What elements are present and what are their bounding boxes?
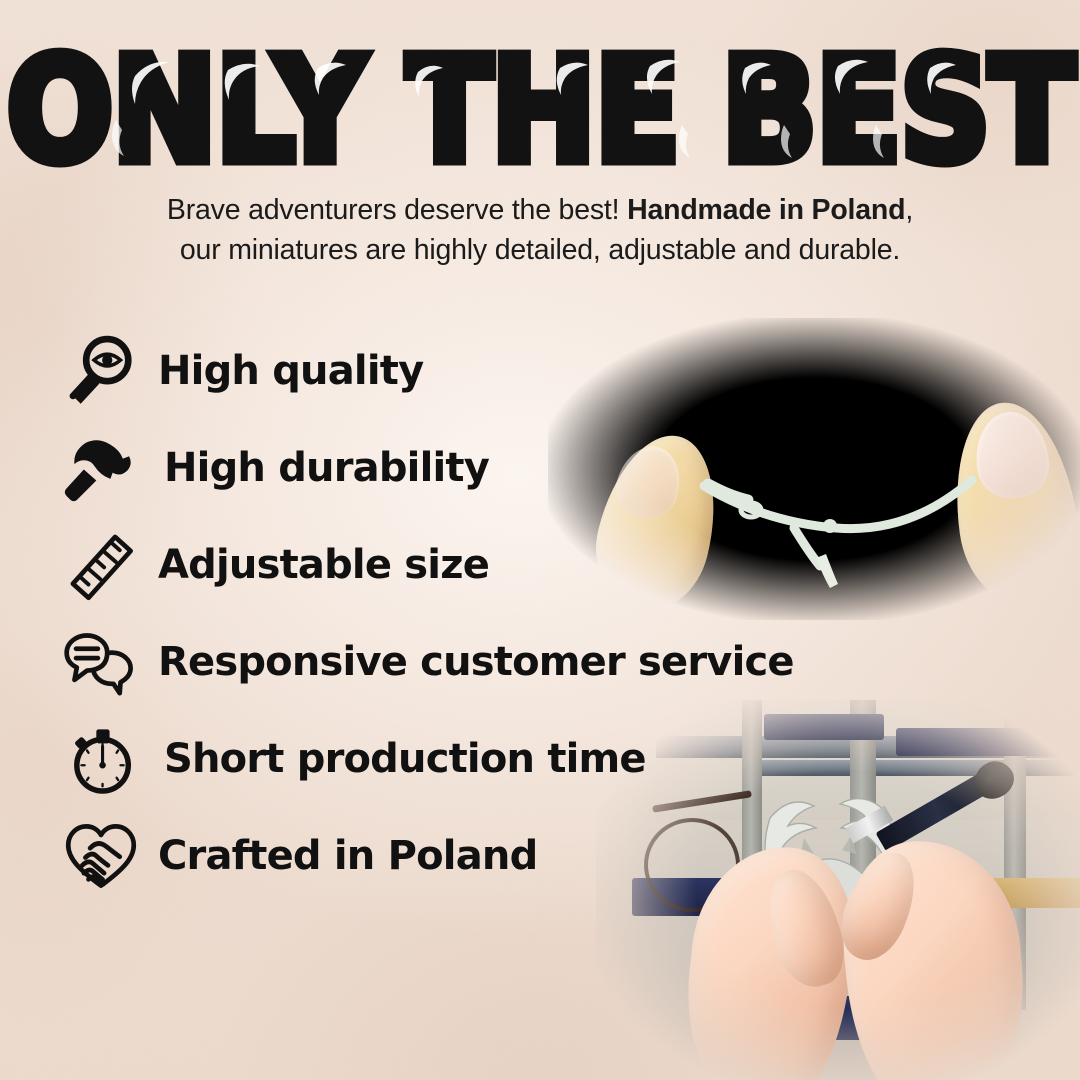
ruler-icon: [62, 526, 140, 604]
feature-item-adjustable-size: Adjustable size: [62, 516, 802, 613]
poster-canvas: ONLY THE BEST Brave adventurers deserve …: [0, 0, 1080, 1080]
feature-label-high-quality: High quality: [158, 348, 423, 394]
feature-item-high-durability: High durability: [62, 419, 802, 516]
subtitle-comma: ,: [905, 194, 913, 226]
stopwatch-icon: [62, 720, 140, 798]
page-title: ONLY THE BEST: [7, 38, 1074, 182]
subtitle-line-2: our miniatures are highly detailed, adju…: [180, 234, 900, 266]
subtitle-lead: Brave adventurers deserve the best!: [167, 194, 619, 226]
paint-tray-upper-right: [896, 728, 1074, 756]
subtitle-text: Brave adventurers deserve the best! Hand…: [90, 190, 990, 271]
feature-list: High quality High durability: [62, 322, 802, 904]
title-block: ONLY THE BEST: [0, 38, 1080, 156]
magnifier-eye-icon: [62, 332, 140, 410]
feature-item-high-quality: High quality: [62, 322, 802, 419]
feature-item-production-time: Short production time: [62, 710, 802, 807]
hammer-icon: [62, 429, 140, 507]
feature-label-production-time: Short production time: [164, 736, 646, 782]
speech-bubbles-icon: [62, 623, 140, 701]
subtitle-bold-phrase: Handmade in Poland: [627, 194, 905, 226]
feature-label-adjustable-size: Adjustable size: [158, 542, 489, 588]
handshake-heart-icon: [62, 817, 140, 895]
feature-item-crafted-in-poland: Crafted in Poland: [62, 807, 802, 904]
feature-label-high-durability: High durability: [164, 445, 489, 491]
feature-item-customer-service: Responsive customer service: [62, 613, 802, 710]
feature-label-crafted-in-poland: Crafted in Poland: [158, 833, 537, 879]
feature-label-customer-service: Responsive customer service: [158, 639, 794, 685]
